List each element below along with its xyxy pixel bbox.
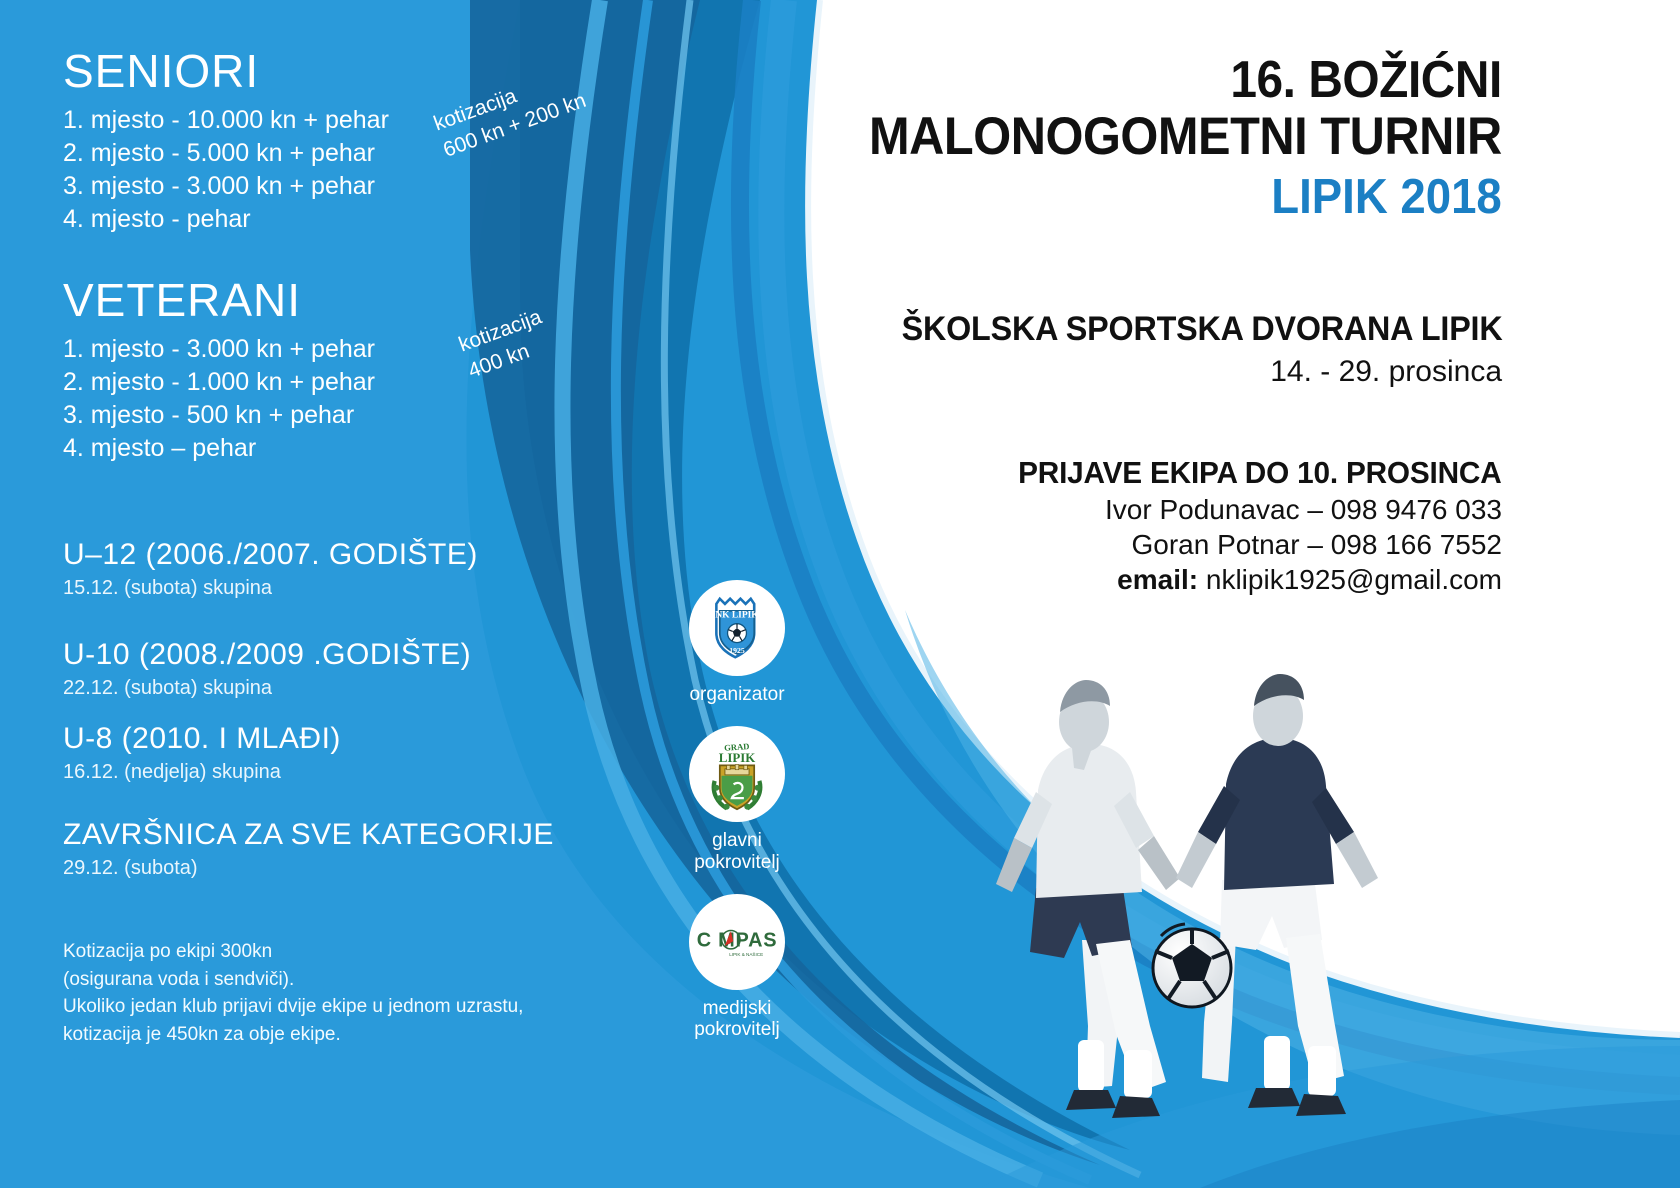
compas-logo-svg: C MPAS LIPIK & NAŠICE [691, 896, 783, 988]
sponsor-caption-organizer: organizator [678, 684, 796, 706]
age-group-u8: U-8 (2010. I MLAĐI) 16.12. (nedjelja) sk… [63, 722, 341, 785]
footnote-line-2: (osigurana voda i sendviči). [63, 966, 523, 994]
prize-seniori-1: 1. mjesto - 10.000 kn + pehar [63, 104, 389, 137]
contact-heading: PRIJAVE EKIPA DO 10. PROSINCA [1019, 455, 1502, 491]
age-group-schedule-finals: 29.12. (subota) [63, 855, 554, 881]
grad-lipik-coat-of-arms-svg: GRAD LIPIK [694, 731, 780, 817]
title-line-1: 16. BOŽIĆNI [869, 52, 1502, 108]
poster-canvas: SENIORI 1. mjesto - 10.000 kn + pehar 2.… [0, 0, 1680, 1188]
prize-veterani-3: 3. mjesto - 500 kn + pehar [63, 399, 375, 432]
sponsor-main: GRAD LIPIK glavni pokrovitelj [678, 726, 796, 874]
sponsor-media: C MPAS LIPIK & NAŠICE medijski pokrovite… [678, 894, 796, 1042]
venue-dates: 14. - 29. prosinca [870, 355, 1502, 389]
prize-seniori-2: 2. mjesto - 5.000 kn + pehar [63, 137, 389, 170]
category-seniori: SENIORI 1. mjesto - 10.000 kn + pehar 2.… [63, 48, 389, 236]
contact-email-line: email: nklipik1925@gmail.com [998, 564, 1502, 596]
sponsor-column: NK LIPIK 1925 organizator GRAD LIPIK [678, 580, 796, 1047]
contact-email-label: email: [1117, 564, 1198, 595]
age-group-finals: ZAVRŠNICA ZA SVE KATEGORIJE 29.12. (subo… [63, 818, 554, 881]
age-group-title-finals: ZAVRŠNICA ZA SVE KATEGORIJE [63, 818, 554, 853]
age-group-u12: U–12 (2006./2007. GODIŠTE) 15.12. (subot… [63, 538, 478, 601]
footnote-line-3: Ukoliko jedan klub prijavi dvije ekipe u… [63, 993, 523, 1021]
category-title-veterani: VETERANI [63, 277, 375, 323]
sponsor-caption-media-l2: pokrovitelj [678, 1019, 796, 1041]
prize-seniori-3: 3. mjesto - 3.000 kn + pehar [63, 170, 389, 203]
compas-tagline: LIPIK & NAŠICE [729, 950, 763, 956]
contact-email-value: nklipik1925@gmail.com [1206, 564, 1502, 595]
age-group-title-u8: U-8 (2010. I MLAĐI) [63, 722, 341, 757]
compas-logo-icon: C MPAS LIPIK & NAŠICE [689, 894, 785, 990]
venue-name: ŠKOLSKA SPORTSKA DVORANA LIPIK [901, 310, 1502, 349]
grad-lipik-logo-icon: GRAD LIPIK [689, 726, 785, 822]
footnote-line-4: kotizacija je 450kn za obje ekipe. [63, 1021, 523, 1049]
age-group-title-u10: U-10 (2008./2009 .GODIŠTE) [63, 638, 471, 673]
age-group-title-u12: U–12 (2006./2007. GODIŠTE) [63, 538, 478, 573]
svg-text:NK LIPIK: NK LIPIK [715, 611, 759, 621]
age-group-u10: U-10 (2008./2009 .GODIŠTE) 22.12. (subot… [63, 638, 471, 701]
sponsor-caption-main-l2: pokrovitelj [678, 852, 796, 874]
contact-block: PRIJAVE EKIPA DO 10. PROSINCA Ivor Podun… [998, 455, 1502, 596]
category-veterani: VETERANI 1. mjesto - 3.000 kn + pehar 2.… [63, 277, 375, 465]
svg-text:1925: 1925 [729, 646, 745, 655]
age-group-schedule-u10: 22.12. (subota) skupina [63, 675, 471, 701]
prize-veterani-4: 4. mjesto – pehar [63, 432, 375, 465]
sponsor-caption-main: glavni pokrovitelj [678, 830, 796, 874]
sponsor-caption-media-l1: medijski [678, 998, 796, 1020]
nk-lipik-crest-svg: NK LIPIK 1925 [694, 585, 780, 671]
prize-seniori-4: 4. mjesto - pehar [63, 203, 389, 236]
title-line-2: MALONOGOMETNI TURNIR [869, 108, 1502, 165]
venue-block: ŠKOLSKA SPORTSKA DVORANA LIPIK 14. - 29.… [870, 310, 1502, 389]
prize-veterani-1: 1. mjesto - 3.000 kn + pehar [63, 333, 375, 366]
footnote-block: Kotizacija po ekipi 300kn (osigurana vod… [63, 938, 523, 1048]
sponsor-organizer: NK LIPIK 1925 organizator [678, 580, 796, 706]
prize-veterani-2: 2. mjesto - 1.000 kn + pehar [63, 366, 375, 399]
footnote-line-1: Kotizacija po ekipi 300kn [63, 938, 523, 966]
contact-person-2: Goran Potnar – 098 166 7552 [998, 529, 1502, 561]
contact-person-1: Ivor Podunavac – 098 9476 033 [998, 494, 1502, 526]
poster-title: 16. BOŽIĆNI MALONOGOMETNI TURNIR LIPIK 2… [814, 52, 1502, 227]
title-line-3-lipik-2018: LIPIK 2018 [862, 169, 1502, 227]
category-title-seniori: SENIORI [63, 48, 389, 94]
nk-lipik-logo-icon: NK LIPIK 1925 [689, 580, 785, 676]
sponsor-caption-main-l1: glavni [678, 830, 796, 852]
age-group-schedule-u8: 16.12. (nedjelja) skupina [63, 759, 341, 785]
svg-text:LIPIK: LIPIK [719, 751, 756, 765]
sponsor-caption-media: medijski pokrovitelj [678, 998, 796, 1042]
age-group-schedule-u12: 15.12. (subota) skupina [63, 575, 478, 601]
